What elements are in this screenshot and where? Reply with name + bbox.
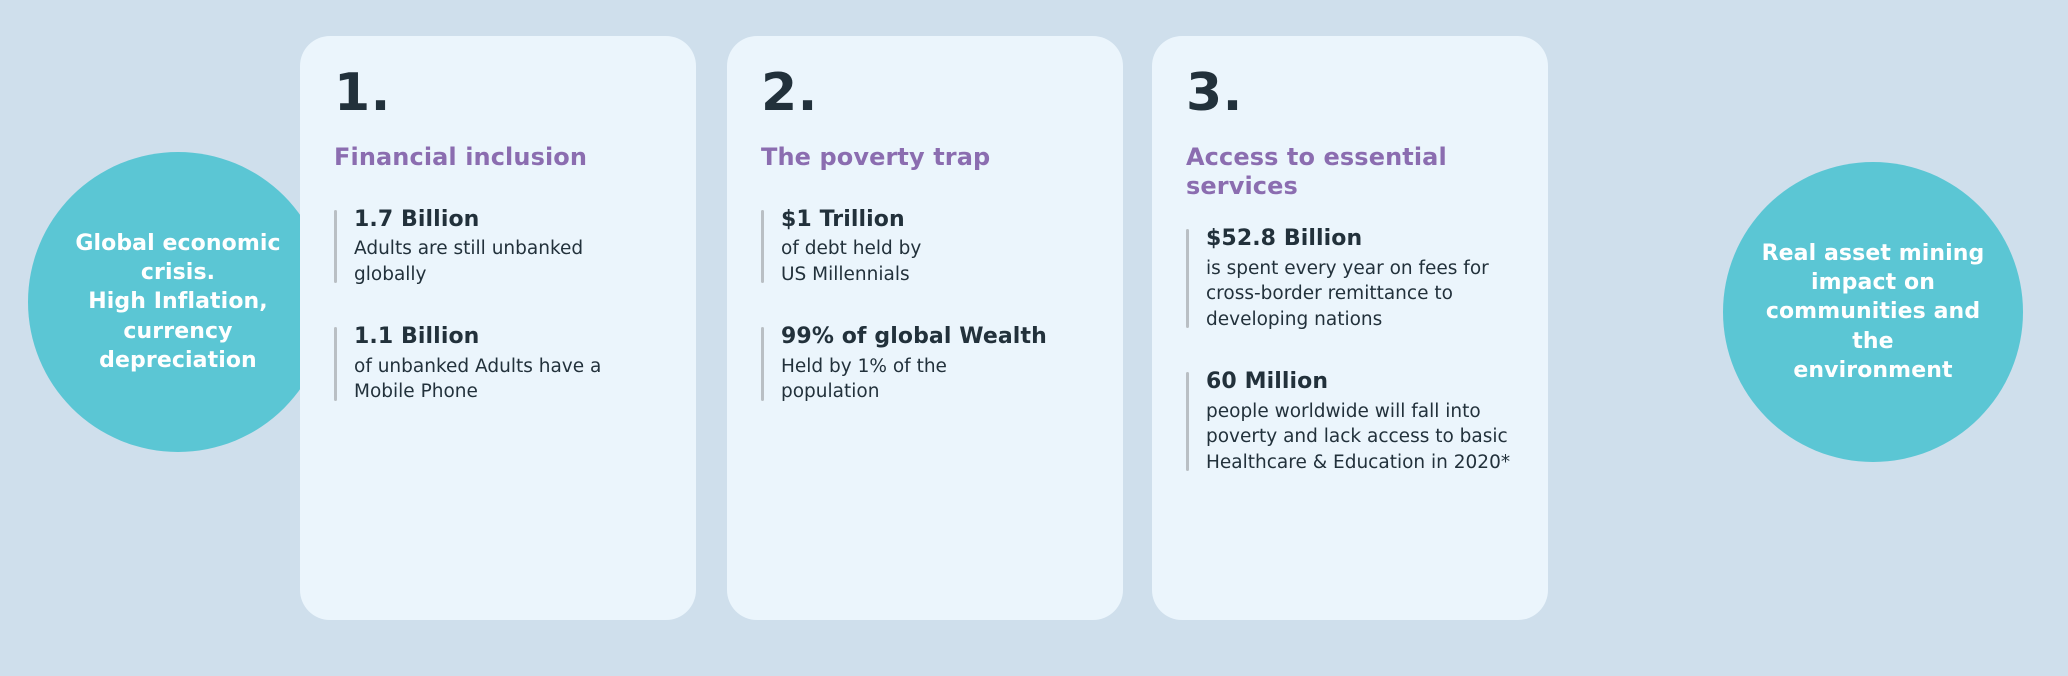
card-3-stats: $52.8 Billion is spent every year on fee…	[1186, 225, 1514, 475]
card-3-heading: Access to essential services	[1186, 143, 1514, 202]
card-2-heading: The poverty trap	[761, 143, 1089, 172]
right-context-circle: Real asset mining impact on communities …	[1723, 162, 2023, 462]
card-3-number: 3.	[1186, 66, 1514, 121]
card-financial-inclusion: 1. Financial inclusion 1.7 Billion Adult…	[300, 36, 696, 620]
stat-item: 60 Million people worldwide will fall in…	[1186, 368, 1514, 475]
stat-value: 1.1 Billion	[354, 323, 662, 351]
card-1-stats: 1.7 Billion Adults are still unbanked gl…	[334, 206, 662, 405]
stat-item: $1 Trillion of debt held by US Millennia…	[761, 206, 1089, 288]
right-circle-text: Real asset mining impact on communities …	[1747, 239, 1999, 385]
card-2-number: 2.	[761, 66, 1089, 121]
stat-description: people worldwide will fall into poverty …	[1206, 399, 1514, 476]
card-2-stats: $1 Trillion of debt held by US Millennia…	[761, 206, 1089, 405]
stat-description: Adults are still unbanked globally	[354, 236, 662, 287]
stat-item: 1.1 Billion of unbanked Adults have a Mo…	[334, 323, 662, 405]
stat-description: of unbanked Adults have a Mobile Phone	[354, 354, 662, 405]
stat-description: of debt held by US Millennials	[781, 236, 1089, 287]
infographic-canvas: Global economic crisis. High Inflation, …	[0, 0, 2068, 676]
stat-description: Held by 1% of the population	[781, 354, 1089, 405]
stat-value: 1.7 Billion	[354, 206, 662, 234]
stat-item: 99% of global Wealth Held by 1% of the p…	[761, 323, 1089, 405]
left-circle-text: Global economic crisis. High Inflation, …	[63, 229, 293, 375]
stat-value: $1 Trillion	[781, 206, 1089, 234]
stat-value: 60 Million	[1206, 368, 1514, 396]
stat-value: $52.8 Billion	[1206, 225, 1514, 253]
card-1-heading: Financial inclusion	[334, 143, 662, 172]
stat-value: 99% of global Wealth	[781, 323, 1089, 351]
card-access-essential-services: 3. Access to essential services $52.8 Bi…	[1152, 36, 1548, 620]
card-poverty-trap: 2. The poverty trap $1 Trillion of debt …	[727, 36, 1123, 620]
stat-item: $52.8 Billion is spent every year on fee…	[1186, 225, 1514, 332]
card-1-number: 1.	[334, 66, 662, 121]
stat-description: is spent every year on fees for cross-bo…	[1206, 256, 1514, 333]
left-context-circle: Global economic crisis. High Inflation, …	[28, 152, 328, 452]
stat-item: 1.7 Billion Adults are still unbanked gl…	[334, 206, 662, 288]
